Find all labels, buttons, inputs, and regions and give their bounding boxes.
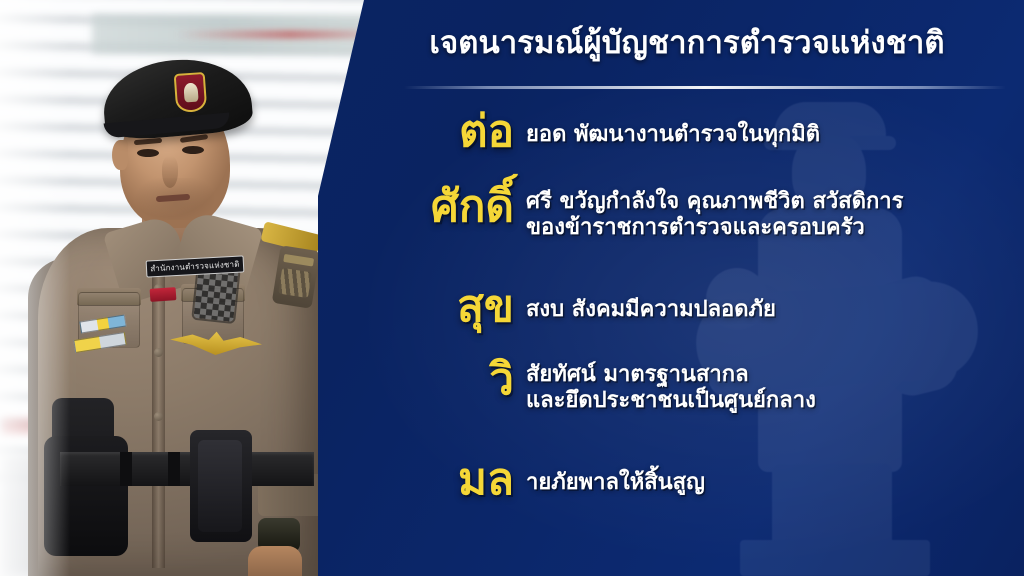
slogan-text-5: ายภัยพาลให้สิ้นสูญ xyxy=(526,458,705,496)
uniform-button xyxy=(154,412,163,421)
red-uniform-tab xyxy=(150,287,177,302)
belt-keeper xyxy=(168,452,180,486)
beret-crest-badge xyxy=(174,72,208,113)
officer-hand xyxy=(248,546,302,576)
duty-belt xyxy=(60,452,314,486)
officer-eye-right xyxy=(182,146,204,154)
slogan-list: ต่อ ยอด พัฒนางานตำรวจในทุกมิติ ศักดิ์ ศร… xyxy=(364,100,1024,570)
officer-ear xyxy=(112,140,128,170)
slogan-item-5: มล ายภัยพาลให้สิ้นสูญ xyxy=(364,458,705,502)
slogan-keyword-2: ศักดิ์ xyxy=(364,185,514,229)
slogan-text-1: ยอด พัฒนางานตำรวจในทุกมิติ xyxy=(526,110,820,148)
slogan-item-1: ต่อ ยอด พัฒนางานตำรวจในทุกมิติ xyxy=(364,110,820,154)
infographic-poster: สำนักงานตำรวจแห่งชาติ เจตนารมณ์ผู้บัญชาก… xyxy=(0,0,1024,576)
slogan-keyword-3: สุข xyxy=(364,285,514,329)
page-title: เจตนารมณ์ผู้บัญชาการตำรวจแห่งชาติ xyxy=(364,26,1010,61)
slogan-item-2: ศักดิ์ ศรี ขวัญกำลังใจ คุณภาพชีวิต สวัสด… xyxy=(364,185,903,241)
slogan-keyword-1: ต่อ xyxy=(364,110,514,154)
slogan-keyword-5: มล xyxy=(364,458,514,502)
name-tape-text: สำนักงานตำรวจแห่งชาติ xyxy=(150,258,240,276)
slogan-text-4: สัยทัศน์ มาตรฐานสากล และยึดประชาชนเป็นศู… xyxy=(526,358,816,414)
slogan-keyword-4: วิ xyxy=(364,358,514,402)
belt-pouch xyxy=(190,430,252,542)
slogan-item-3: สุข สงบ สังคมมีความปลอดภัย xyxy=(364,285,776,329)
belt-keeper xyxy=(120,452,132,486)
officer-nose xyxy=(162,156,178,188)
uniform-button xyxy=(154,348,163,357)
slogan-item-4: วิ สัยทัศน์ มาตรฐานสากล และยึดประชาชนเป็… xyxy=(364,358,816,414)
officer-eye-left xyxy=(137,149,159,157)
slogan-text-2: ศรี ขวัญกำลังใจ คุณภาพชีวิต สวัสดิการ ขอ… xyxy=(526,185,903,241)
slogan-text-3: สงบ สังคมมีความปลอดภัย xyxy=(526,285,776,323)
title-divider xyxy=(404,86,1006,89)
